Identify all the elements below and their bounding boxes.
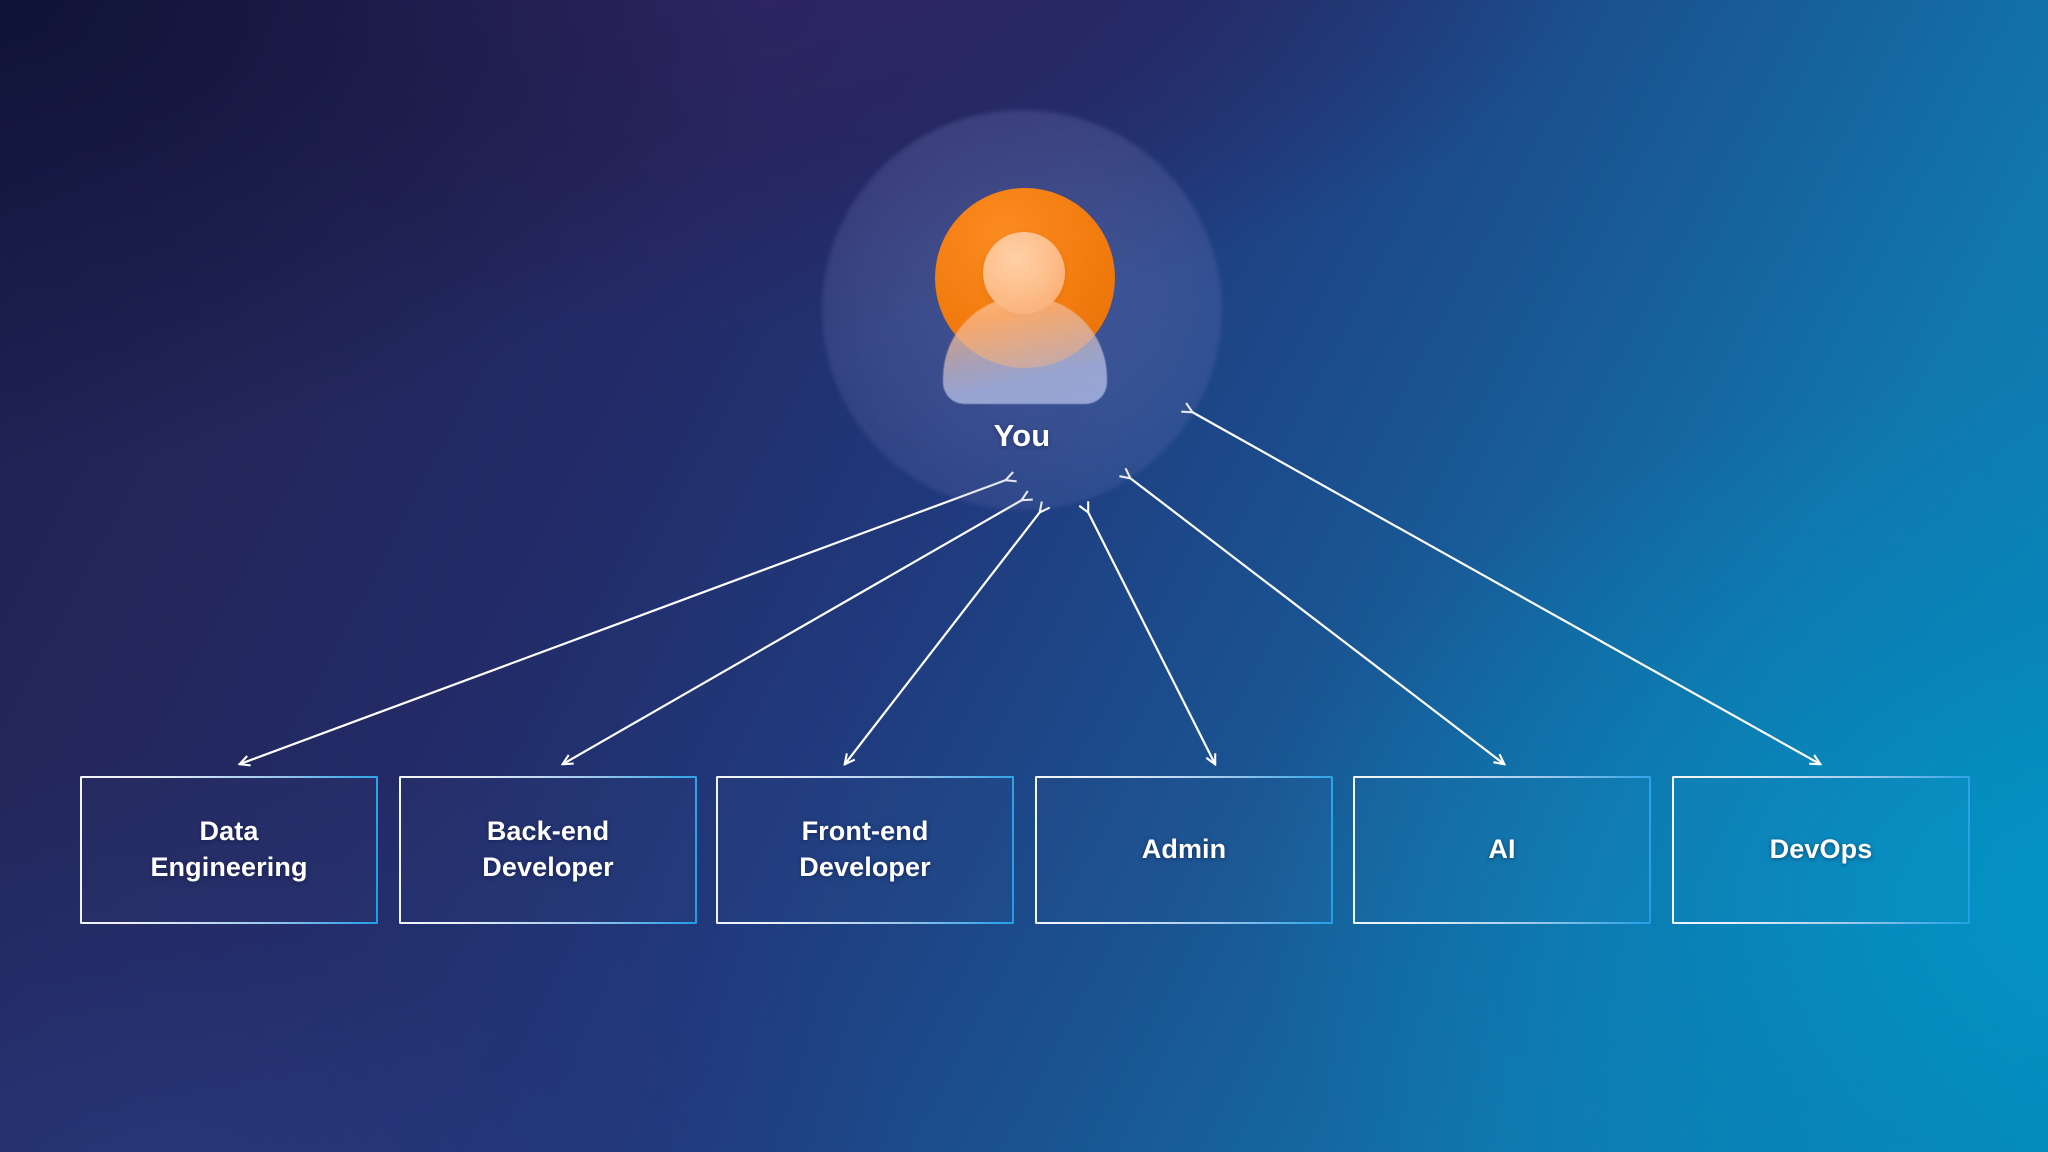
- role-box-front-end-developer[interactable]: Front-endDeveloper: [716, 776, 1014, 924]
- role-box-data-engineering[interactable]: DataEngineering: [80, 776, 378, 924]
- role-box-back-end-developer[interactable]: Back-endDeveloper: [399, 776, 697, 924]
- role-label-front-end-developer: Front-endDeveloper: [799, 814, 930, 885]
- center-node-label: You: [822, 418, 1222, 454]
- role-label-devops: DevOps: [1770, 832, 1873, 868]
- role-box-admin[interactable]: Admin: [1035, 776, 1333, 924]
- role-label-admin: Admin: [1142, 832, 1227, 868]
- role-box-ai[interactable]: AI: [1353, 776, 1651, 924]
- user-avatar-icon[interactable]: [925, 188, 1115, 403]
- role-label-back-end-developer: Back-endDeveloper: [482, 814, 613, 885]
- role-label-data-engineering: DataEngineering: [150, 814, 307, 885]
- role-label-ai: AI: [1488, 832, 1515, 868]
- role-box-devops[interactable]: DevOps: [1672, 776, 1970, 924]
- diagram-canvas: You DataEngineering Back-endDeveloper Fr…: [0, 0, 2048, 1152]
